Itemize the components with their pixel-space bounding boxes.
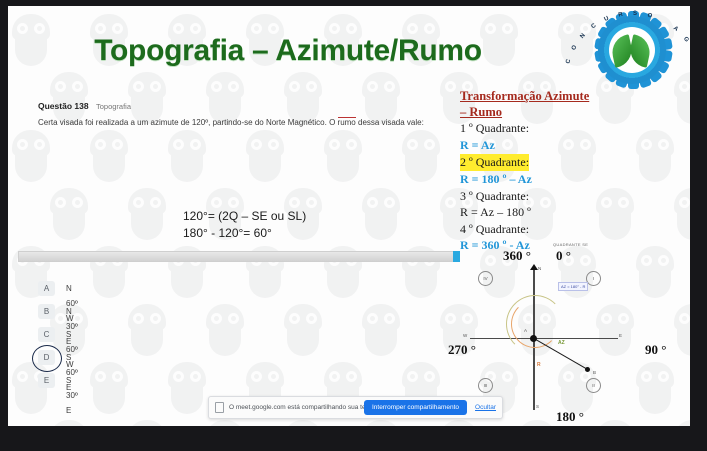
logo-letter: O [647, 13, 653, 20]
selected-answer-circle [32, 345, 62, 372]
owl-watermark [358, 420, 404, 426]
option-key-a[interactable]: A [38, 281, 55, 296]
logo-letter: N [579, 33, 586, 40]
slide-page: Topografia – Azimute/Rumo CONCURSO AGRO … [8, 6, 690, 426]
reference-row: R = Az [460, 137, 625, 154]
section-divider [18, 251, 458, 262]
owl-watermark [164, 130, 210, 182]
owl-watermark [202, 304, 248, 356]
question-keyword: rumo [338, 117, 356, 127]
annotation-formula: 120°= (2Q – SE ou SL) 180° - 120°= 60° [183, 208, 306, 242]
option-key-e[interactable]: E [38, 373, 55, 388]
logo-letter: C [590, 23, 597, 30]
stop-sharing-button[interactable]: Interromper compartilhamento [364, 400, 467, 415]
degree-270-label: 270 ° [448, 342, 476, 358]
owl-watermark [280, 72, 326, 124]
owl-watermark [398, 130, 444, 182]
concurso-agro-logo: CONCURSO AGRO [590, 8, 676, 86]
owl-watermark [358, 304, 404, 356]
question-text: Certa visada foi realizada a um azimute … [38, 118, 448, 127]
owl-watermark [202, 72, 248, 124]
logo-letter: A [672, 25, 679, 32]
az-label: AZ [558, 340, 565, 346]
option-label-e: S 30º E [66, 373, 78, 418]
screen-share-bar: O meet.google.com está compartilhando su… [208, 396, 503, 419]
reference-row: 1 º Quadrante: [460, 120, 625, 137]
quadrant-marker-iii: III [478, 378, 493, 393]
owl-watermark [164, 362, 210, 414]
logo-letter: R [618, 12, 624, 19]
cardinal-south: S [536, 404, 539, 409]
page-title: Topografia – Azimute/Rumo [8, 34, 568, 68]
screen-share-frame: Topografia – Azimute/Rumo CONCURSO AGRO … [0, 0, 707, 451]
owl-watermark [124, 188, 170, 240]
north-arrow-icon [530, 264, 538, 270]
owl-watermark [632, 130, 678, 182]
reference-title: Transformação Azimute – Rumo [460, 88, 625, 120]
point-a-label: A [524, 328, 527, 333]
annotation-line-2: 180° - 120°= 60° [183, 225, 306, 242]
degree-90-label: 90 ° [645, 342, 666, 358]
owl-watermark [320, 130, 366, 182]
r-label: R [537, 362, 541, 368]
question-number: Questão 138 [38, 101, 89, 111]
annotation-line-1: 120°= (2Q – SE ou SL) [183, 208, 306, 225]
owl-watermark [202, 420, 248, 426]
share-message: O meet.google.com está compartilhando su… [229, 404, 364, 411]
owl-watermark [46, 72, 92, 124]
reference-title-line-2: – Rumo [460, 104, 625, 120]
logo-letter: U [603, 16, 609, 23]
owl-watermark [86, 130, 132, 182]
reference-row: R = Az – 180 º [460, 204, 625, 221]
quadrant-marker-ii: II [586, 378, 601, 393]
quadrant-se-caption: QUADRANTE SE [553, 242, 588, 247]
owl-watermark [46, 420, 92, 426]
owl-watermark [124, 72, 170, 124]
logo-letter: G [682, 36, 690, 43]
owl-watermark [124, 420, 170, 426]
option-key-b[interactable]: B [38, 304, 55, 319]
owl-watermark [358, 72, 404, 124]
degree-180-label: 180 ° [556, 409, 584, 425]
reference-row: R = 360 º - Az [460, 237, 625, 254]
point-b-dot [585, 367, 590, 372]
option-key-c[interactable]: C [38, 327, 55, 342]
owl-watermark [280, 420, 326, 426]
az-formula-box: AZ = 180° - R [558, 282, 588, 291]
hide-bar-link[interactable]: Ocultar [475, 404, 496, 411]
degree-360-label: 360 ° [503, 248, 531, 264]
cardinal-north: N [538, 266, 541, 271]
reference-row: 2 º Quadrante: [460, 154, 529, 171]
reference-title-line-1: Transformação Azimute [460, 88, 625, 104]
question-text-before: Certa visada foi realizada a um azimute … [38, 118, 338, 127]
question-text-after: dessa visada vale: [356, 118, 424, 127]
question-tag: Topografia [96, 102, 131, 111]
owl-watermark [670, 188, 690, 240]
reference-row: 3 º Quadrante: [460, 188, 625, 205]
logo-text: CONCURSO AGRO [590, 8, 676, 86]
owl-watermark [124, 304, 170, 356]
degree-0-label: 0 ° [556, 248, 571, 264]
owl-watermark [280, 304, 326, 356]
point-b-label: B [593, 370, 596, 375]
cardinal-east: E [619, 333, 622, 338]
owl-watermark [8, 130, 54, 182]
cardinal-west: W [463, 333, 467, 338]
reference-panel: Transformação Azimute – Rumo 1 º Quadran… [460, 88, 625, 254]
point-a-dot [530, 335, 537, 342]
reference-row: 4 º Quadrante: [460, 221, 625, 238]
quadrant-marker-iv: IV [478, 271, 493, 286]
reference-rows: 1 º Quadrante:R = Az2 º Quadrante:R = 18… [460, 120, 625, 254]
owl-watermark [46, 188, 92, 240]
reference-row: R = 180 º – Az [460, 171, 625, 188]
owl-watermark [358, 188, 404, 240]
owl-watermark [242, 130, 288, 182]
logo-letter: S [633, 11, 637, 17]
logo-letter: O [571, 45, 578, 52]
owl-watermark [86, 362, 132, 414]
monitor-icon [215, 402, 224, 413]
